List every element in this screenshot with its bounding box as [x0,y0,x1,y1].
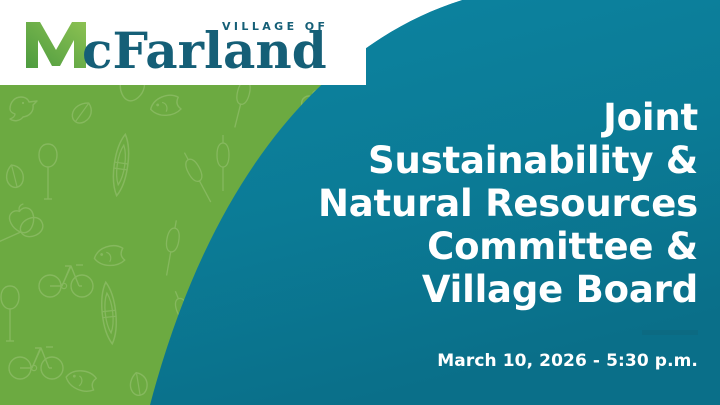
meeting-datetime: March 10, 2026 - 5:30 p.m. [437,350,698,372]
logo-eyebrow-text: VILLAGE OF [222,20,328,33]
meeting-title-card: cFarland VILLAGE OF Joint Sustainability… [0,0,720,405]
village-logo-svg: cFarland VILLAGE OF [24,14,342,74]
title-block: Joint Sustainability & Natural Resources… [228,96,698,311]
meeting-title: Joint Sustainability & Natural Resources… [228,96,698,311]
village-logo[interactable]: cFarland VILLAGE OF [24,14,342,72]
logo-letter-m [26,22,86,68]
title-divider [642,330,698,335]
